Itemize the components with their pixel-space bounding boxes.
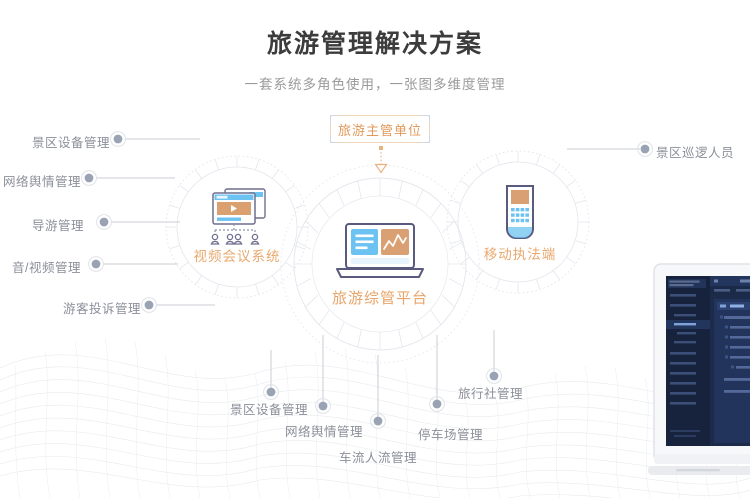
corner-mark-tl xyxy=(330,115,338,123)
authority-box[interactable]: 旅游主管单位 xyxy=(330,115,430,143)
right-label-1[interactable]: 景区巡逻人员 xyxy=(656,142,734,161)
bottom-label-2[interactable]: 网络舆情管理 xyxy=(285,421,363,440)
bottom-label-4[interactable]: 停车场管理 xyxy=(418,424,483,443)
left-label-2[interactable]: 网络舆情管理 xyxy=(3,171,81,190)
arrow-down-icon xyxy=(372,146,390,174)
node-label-tourism-platform: 旅游综管平台 xyxy=(305,287,455,308)
header: 旅游管理解决方案 一套系统多角色使用，一张图多维度管理 xyxy=(0,0,750,93)
tourism-dashboard-preview[interactable] xyxy=(648,258,750,498)
left-label-3[interactable]: 导游管理 xyxy=(32,215,84,234)
left-label-4[interactable]: 音/视频管理 xyxy=(12,257,81,276)
corner-mark-br xyxy=(422,135,430,143)
laptop-dashboard-icon[interactable] xyxy=(333,222,427,284)
page-title: 旅游管理解决方案 xyxy=(0,24,750,60)
node-label-mobile-enforcement: 移动执法端 xyxy=(450,243,590,263)
left-label-1[interactable]: 景区设备管理 xyxy=(32,132,110,151)
authority-label: 旅游主管单位 xyxy=(338,120,422,139)
corner-mark-tr xyxy=(422,115,430,123)
bottom-label-5[interactable]: 旅行社管理 xyxy=(458,383,523,402)
bottom-label-1[interactable]: 景区设备管理 xyxy=(230,399,308,418)
bottom-label-3[interactable]: 车流人流管理 xyxy=(339,447,417,466)
video-window-icon[interactable] xyxy=(203,186,273,248)
corner-mark-bl xyxy=(330,135,338,143)
infographic-stage: 旅游管理解决方案 一套系统多角色使用，一张图多维度管理 xyxy=(0,0,750,498)
page-subtitle: 一套系统多角色使用，一张图多维度管理 xyxy=(0,73,750,93)
node-label-video-conference: 视频会议系统 xyxy=(167,245,307,265)
left-label-5[interactable]: 游客投诉管理 xyxy=(63,298,141,317)
background-wave-mesh xyxy=(0,308,750,498)
mobile-device-icon[interactable] xyxy=(498,182,542,244)
